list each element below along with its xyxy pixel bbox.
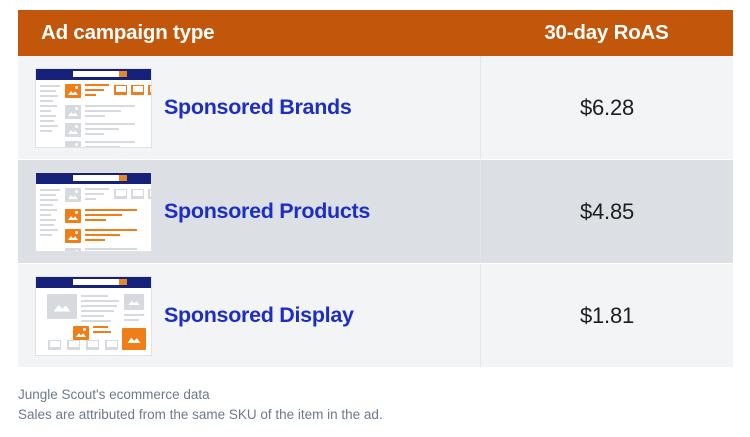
search-bar-mock bbox=[73, 71, 127, 77]
search-bar-mock bbox=[73, 175, 127, 181]
browser-nav-bar bbox=[36, 277, 151, 288]
roas-cell: $6.28 bbox=[480, 56, 733, 159]
product-hero-image bbox=[47, 294, 77, 319]
roas-cell: $4.85 bbox=[480, 160, 733, 263]
campaign-cell: Sponsored Products bbox=[18, 160, 480, 263]
sponsored-brands-thumbnail bbox=[35, 68, 152, 148]
page-body-mock bbox=[36, 80, 151, 147]
organic-result-item bbox=[65, 188, 109, 203]
footnote-line-1: Jungle Scout's ecommerce data bbox=[18, 385, 383, 405]
browser-nav-bar bbox=[36, 173, 151, 184]
table-row: Sponsored Products $4.85 bbox=[18, 159, 733, 263]
organic-result-item bbox=[65, 141, 135, 148]
table-row: Sponsored Brands $6.28 bbox=[18, 56, 733, 159]
filters-sidebar-mock bbox=[40, 85, 60, 135]
search-icon bbox=[119, 71, 127, 77]
search-icon bbox=[119, 175, 127, 181]
infographic-root: Ad campaign type 30-day RoAS bbox=[0, 0, 750, 437]
sponsored-display-thumbnail bbox=[35, 276, 152, 356]
search-icon bbox=[119, 279, 127, 285]
related-product-tiles bbox=[48, 340, 118, 350]
roas-table: Ad campaign type 30-day RoAS bbox=[18, 10, 733, 365]
roas-value: $1.81 bbox=[580, 303, 634, 329]
table-row: Sponsored Display $1.81 bbox=[18, 263, 733, 367]
organic-result-item bbox=[65, 105, 135, 120]
filters-sidebar-mock bbox=[40, 189, 60, 239]
organic-result-item bbox=[65, 248, 137, 252]
roas-cell: $1.81 bbox=[480, 264, 733, 367]
page-body-mock bbox=[36, 184, 151, 251]
roas-value: $6.28 bbox=[580, 95, 634, 121]
table-header-row: Ad campaign type 30-day RoAS bbox=[18, 10, 733, 56]
browser-nav-bar bbox=[36, 69, 151, 80]
page-body-mock bbox=[36, 288, 151, 355]
source-footnote: Jungle Scout's ecommerce data Sales are … bbox=[18, 385, 383, 425]
column-header-roas: 30-day RoAS bbox=[480, 10, 733, 56]
sponsored-product-item bbox=[65, 209, 137, 224]
buy-box-lines bbox=[124, 314, 144, 324]
campaign-name-label: Sponsored Display bbox=[164, 303, 354, 328]
product-detail-lines bbox=[81, 295, 119, 325]
roas-value: $4.85 bbox=[580, 199, 634, 225]
sponsored-display-inline-ad bbox=[73, 326, 111, 340]
sponsored-brand-banner bbox=[65, 84, 109, 99]
brand-product-tiles bbox=[114, 85, 152, 95]
product-tiles bbox=[114, 189, 152, 199]
campaign-name-label: Sponsored Brands bbox=[164, 95, 352, 120]
buy-box-mock bbox=[124, 294, 144, 310]
sponsored-display-banner-ad bbox=[122, 328, 146, 350]
search-bar-mock bbox=[73, 279, 127, 285]
organic-result-item bbox=[65, 123, 135, 138]
campaign-cell: Sponsored Display bbox=[18, 264, 480, 367]
footnote-line-2: Sales are attributed from the same SKU o… bbox=[18, 405, 383, 425]
campaign-cell: Sponsored Brands bbox=[18, 56, 480, 159]
campaign-name-label: Sponsored Products bbox=[164, 199, 370, 224]
column-header-campaign-type: Ad campaign type bbox=[18, 10, 480, 56]
sponsored-products-thumbnail bbox=[35, 172, 152, 252]
sponsored-product-item bbox=[65, 229, 137, 244]
